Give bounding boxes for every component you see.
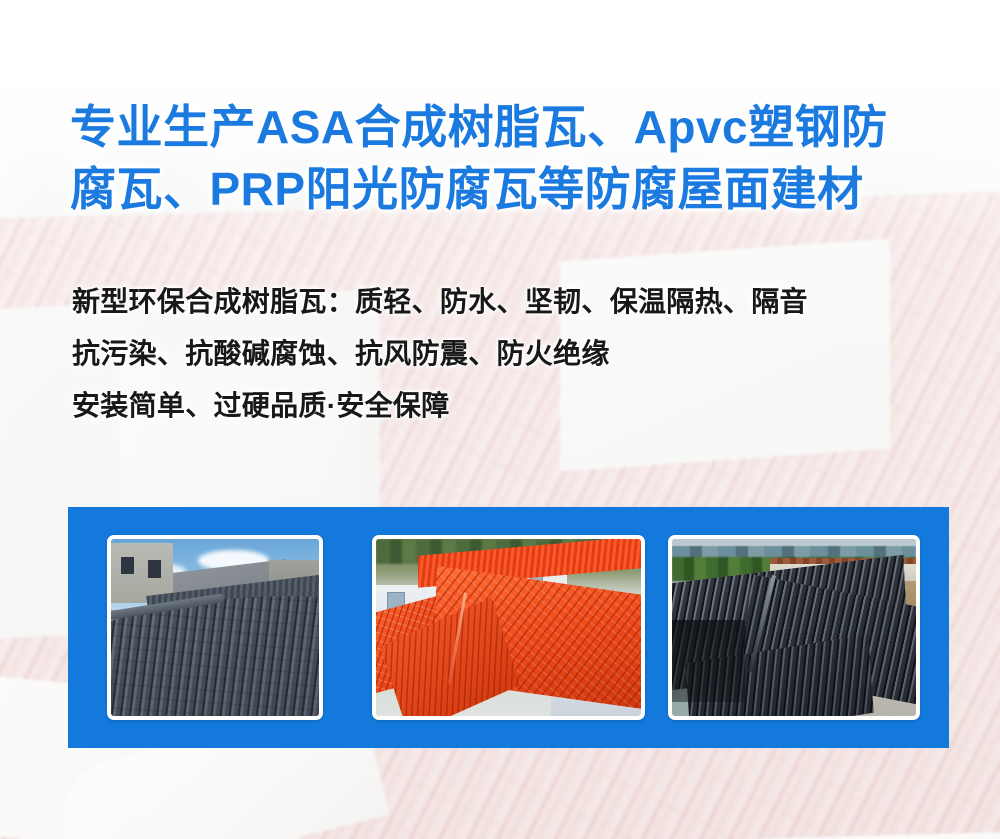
- gray-roof-image: [111, 539, 319, 716]
- window-shape: [148, 560, 160, 578]
- shadow-region: [672, 620, 745, 701]
- headline: 专业生产ASA合成树脂瓦、Apvc塑钢防 腐瓦、PRP阳光防腐瓦等防腐屋面建材: [70, 96, 950, 220]
- gallery-panel: [68, 507, 949, 748]
- red-resin-tile-roof-photo[interactable]: [372, 535, 645, 720]
- red-roof-image: [376, 539, 641, 716]
- subtitle-line-2: 抗污染、抗酸碱腐蚀、抗风防震、防火绝缘: [72, 328, 972, 380]
- window-shape: [121, 557, 133, 575]
- subtitle-block: 新型环保合成树脂瓦：质轻、防水、坚韧、保温隔热、隔音 抗污染、抗酸碱腐蚀、抗风防…: [72, 276, 972, 432]
- headline-line-2: 腐瓦、PRP阳光防腐瓦等防腐屋面建材: [70, 158, 950, 220]
- subtitle-line-1: 新型环保合成树脂瓦：质轻、防水、坚韧、保温隔热、隔音: [72, 276, 972, 328]
- black-resin-tile-roof-photo[interactable]: [668, 535, 920, 720]
- subtitle-line-3: 安装简单、过硬品质·安全保障: [72, 380, 972, 432]
- black-roof-image: [672, 539, 916, 716]
- headline-line-1: 专业生产ASA合成树脂瓦、Apvc塑钢防: [70, 96, 950, 158]
- gray-resin-tile-roof-photo[interactable]: [107, 535, 323, 720]
